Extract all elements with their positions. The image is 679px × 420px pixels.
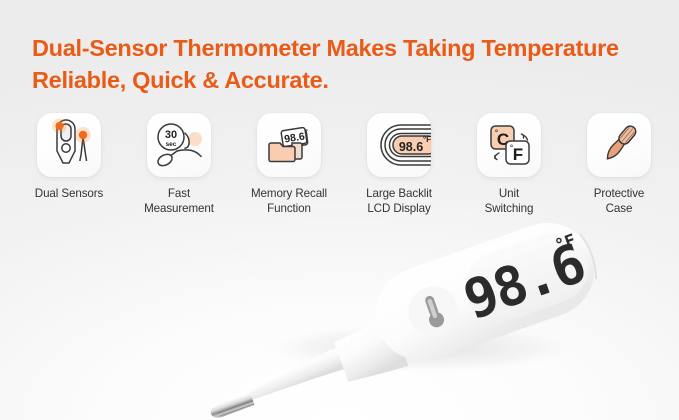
feature-caption: Fast Measurement [124, 186, 234, 217]
headline-line-2: Reliable, Quick & Accurate. [32, 65, 652, 97]
head-seam [580, 233, 600, 280]
feature-item-protective-case: Protective Case [564, 113, 674, 217]
caption-line-1: Large Backlit [366, 187, 432, 200]
product-shadow [255, 322, 585, 374]
feature-item-large-backlit-lcd: 98.6 °F Large Backlit LCD Display [344, 113, 454, 217]
svg-text:sec: sec [166, 141, 177, 148]
caption-line-2: Function [267, 202, 311, 215]
svg-text:°: ° [510, 143, 513, 152]
backlit-lcd-display-icon: 98.6 °F [367, 113, 431, 177]
feature-caption: Memory Recall Function [234, 186, 344, 217]
caption-line-1: Memory Recall [251, 187, 327, 200]
feature-caption: Dual Sensors [14, 186, 124, 201]
thermometer-dual-sensor-icon [37, 113, 101, 177]
svg-text:F: F [513, 145, 523, 164]
feature-icon-card: 98.6 ° [257, 113, 321, 177]
lcd-reading: 98.6 [456, 232, 592, 332]
caption-line-1: Fast [168, 187, 190, 200]
feature-item-unit-switching: C ° F ° Unit Switching [454, 113, 564, 217]
thermometer-protective-case-icon [587, 113, 651, 177]
celsius-fahrenheit-swap-icon: C ° F ° [477, 113, 541, 177]
svg-text:°: ° [495, 128, 498, 137]
caption-line-1: Protective [594, 187, 645, 200]
feature-caption: Unit Switching [454, 186, 564, 217]
feature-icon-card [37, 113, 101, 177]
caption-line-1: Unit [499, 187, 519, 200]
caption-line-2: Case [606, 202, 633, 215]
thermometer-stem [243, 345, 349, 402]
feature-icon-card [587, 113, 651, 177]
thermometer-metal-tip [209, 393, 255, 420]
memory-folder-cards-icon: 98.6 ° [257, 113, 321, 177]
caption-line-2: LCD Display [367, 202, 430, 215]
page-title: Dual-Sensor Thermometer Makes Taking Tem… [32, 33, 652, 97]
stopwatch-30-sec-icon: 30 sec [147, 113, 211, 177]
feature-caption: Large Backlit LCD Display [344, 186, 454, 217]
feature-icon-card: 30 sec [147, 113, 211, 177]
mode-button[interactable] [402, 279, 466, 343]
product-feature-banner: Dual-Sensor Thermometer Makes Taking Tem… [0, 0, 679, 420]
feature-item-fast-measurement: 30 sec Fast Measurement [124, 113, 234, 217]
feature-icon-card: 98.6 °F [367, 113, 431, 177]
thermometer-button-icon [421, 294, 446, 330]
svg-text:30: 30 [165, 129, 177, 141]
feature-item-memory-recall: 98.6 ° Memory Recall Function [234, 113, 344, 217]
headline-line-1: Dual-Sensor Thermometer Makes Taking Tem… [32, 35, 619, 61]
lcd-screen [455, 223, 597, 331]
caption-line-1: Dual Sensors [35, 187, 103, 200]
thermometer-body-group: 98.6 °F [188, 210, 608, 420]
feature-item-dual-sensors: Dual Sensors [14, 113, 124, 201]
svg-text:°F: °F [423, 135, 431, 144]
feature-list: Dual Sensors 30 sec [0, 113, 679, 238]
feature-caption: Protective Case [564, 186, 674, 217]
svg-text:°: ° [305, 128, 309, 136]
caption-line-2: Switching [485, 202, 534, 215]
svg-text:98.6: 98.6 [399, 140, 423, 154]
caption-line-2: Measurement [144, 202, 214, 215]
tip-ridges [217, 401, 254, 417]
feature-icon-card: C ° F ° [477, 113, 541, 177]
thermometer-taper [332, 317, 408, 387]
